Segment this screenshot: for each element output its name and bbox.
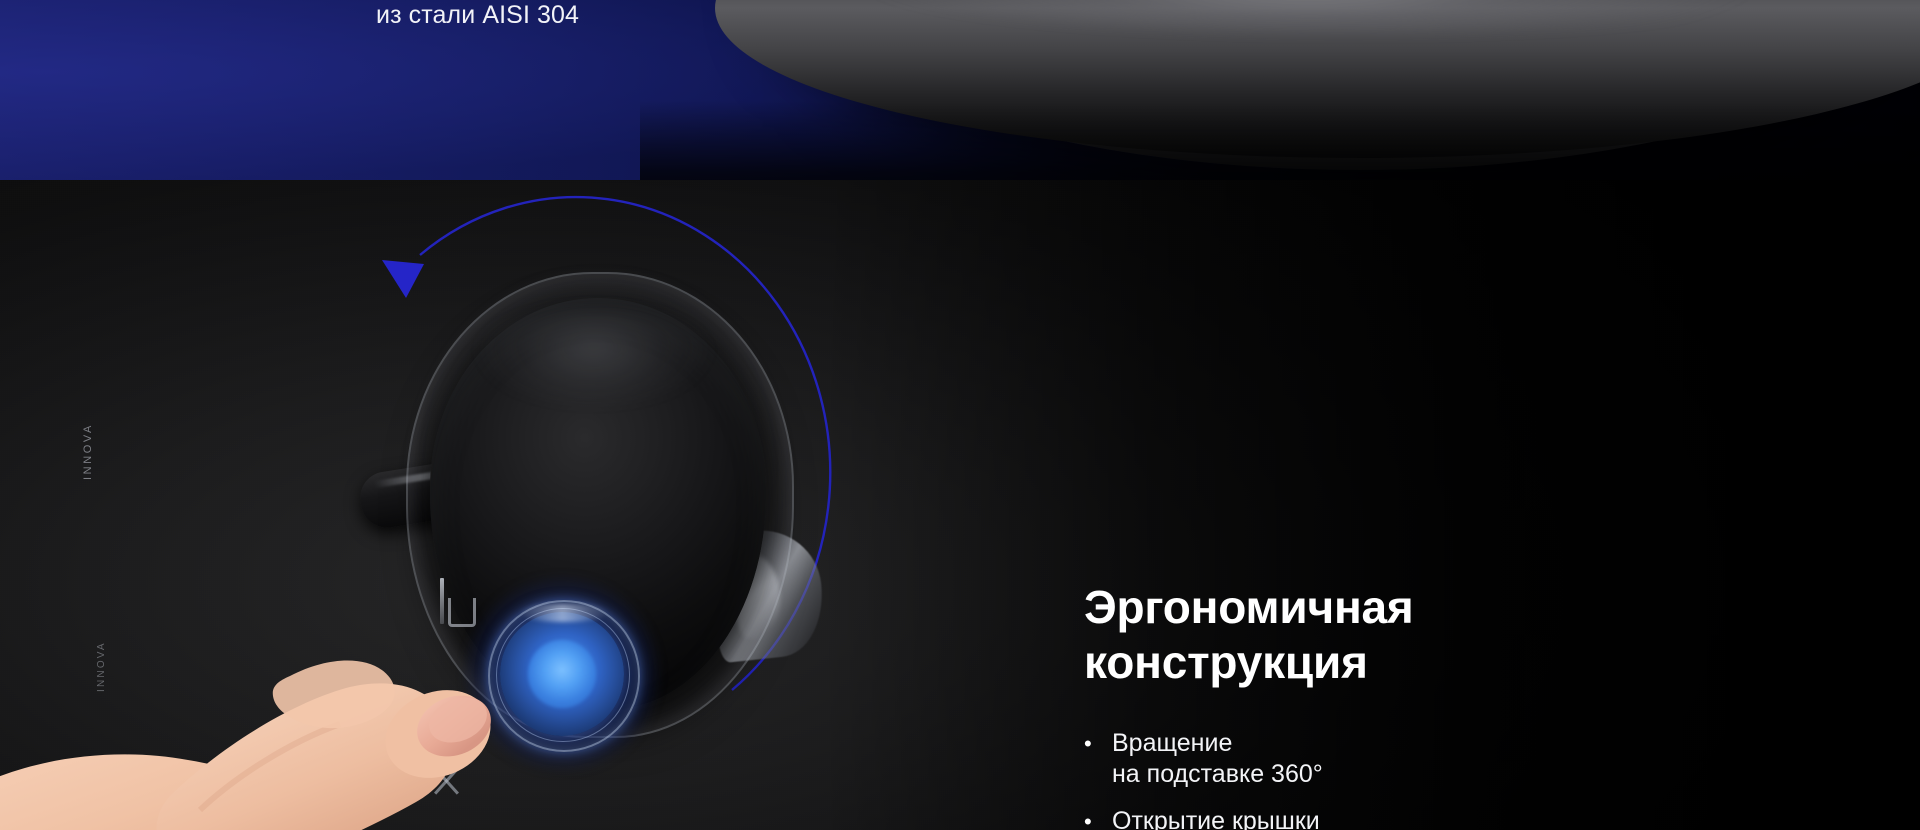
bullet-dot-icon: • — [352, 0, 376, 1]
list-item: • Открытие крышки одним нажатием — [1084, 806, 1604, 830]
bullet-dot-icon: • — [1084, 728, 1112, 760]
list-item: • Вращение на подставке 360° — [1084, 728, 1604, 790]
top-bullet-list: • Нагревательный элемент из стали AISI 3… — [352, 0, 772, 30]
lid-base-shadow — [640, 100, 1920, 180]
top-feature-band: • Нагревательный элемент из стали AISI 3… — [0, 0, 1920, 180]
feature-copy-block: Эргономичная конструкция • Вращение на п… — [1084, 580, 1604, 830]
ergonomics-section: INNOVA INNOVA — [0, 180, 1920, 830]
bullet-text: Открытие крышки одним нажатием — [1112, 806, 1604, 830]
product-feature-page: • Нагревательный элемент из стали AISI 3… — [0, 0, 1920, 830]
page-title: Эргономичная конструкция — [1084, 580, 1604, 690]
button-highlight — [520, 604, 608, 622]
list-item: • Нагревательный элемент из стали AISI 3… — [352, 0, 772, 30]
bullet-text: Нагревательный элемент из стали AISI 304 — [376, 0, 772, 30]
kettle-brand-text: INNOVA — [82, 423, 94, 480]
feature-bullet-list: • Вращение на подставке 360° • Открытие … — [1084, 728, 1604, 830]
hand-pressing-button — [0, 660, 600, 830]
lid-mark-bar-icon — [440, 578, 444, 624]
bullet-text: Вращение на подставке 360° — [1112, 728, 1604, 790]
bullet-dot-icon: • — [1084, 806, 1112, 830]
